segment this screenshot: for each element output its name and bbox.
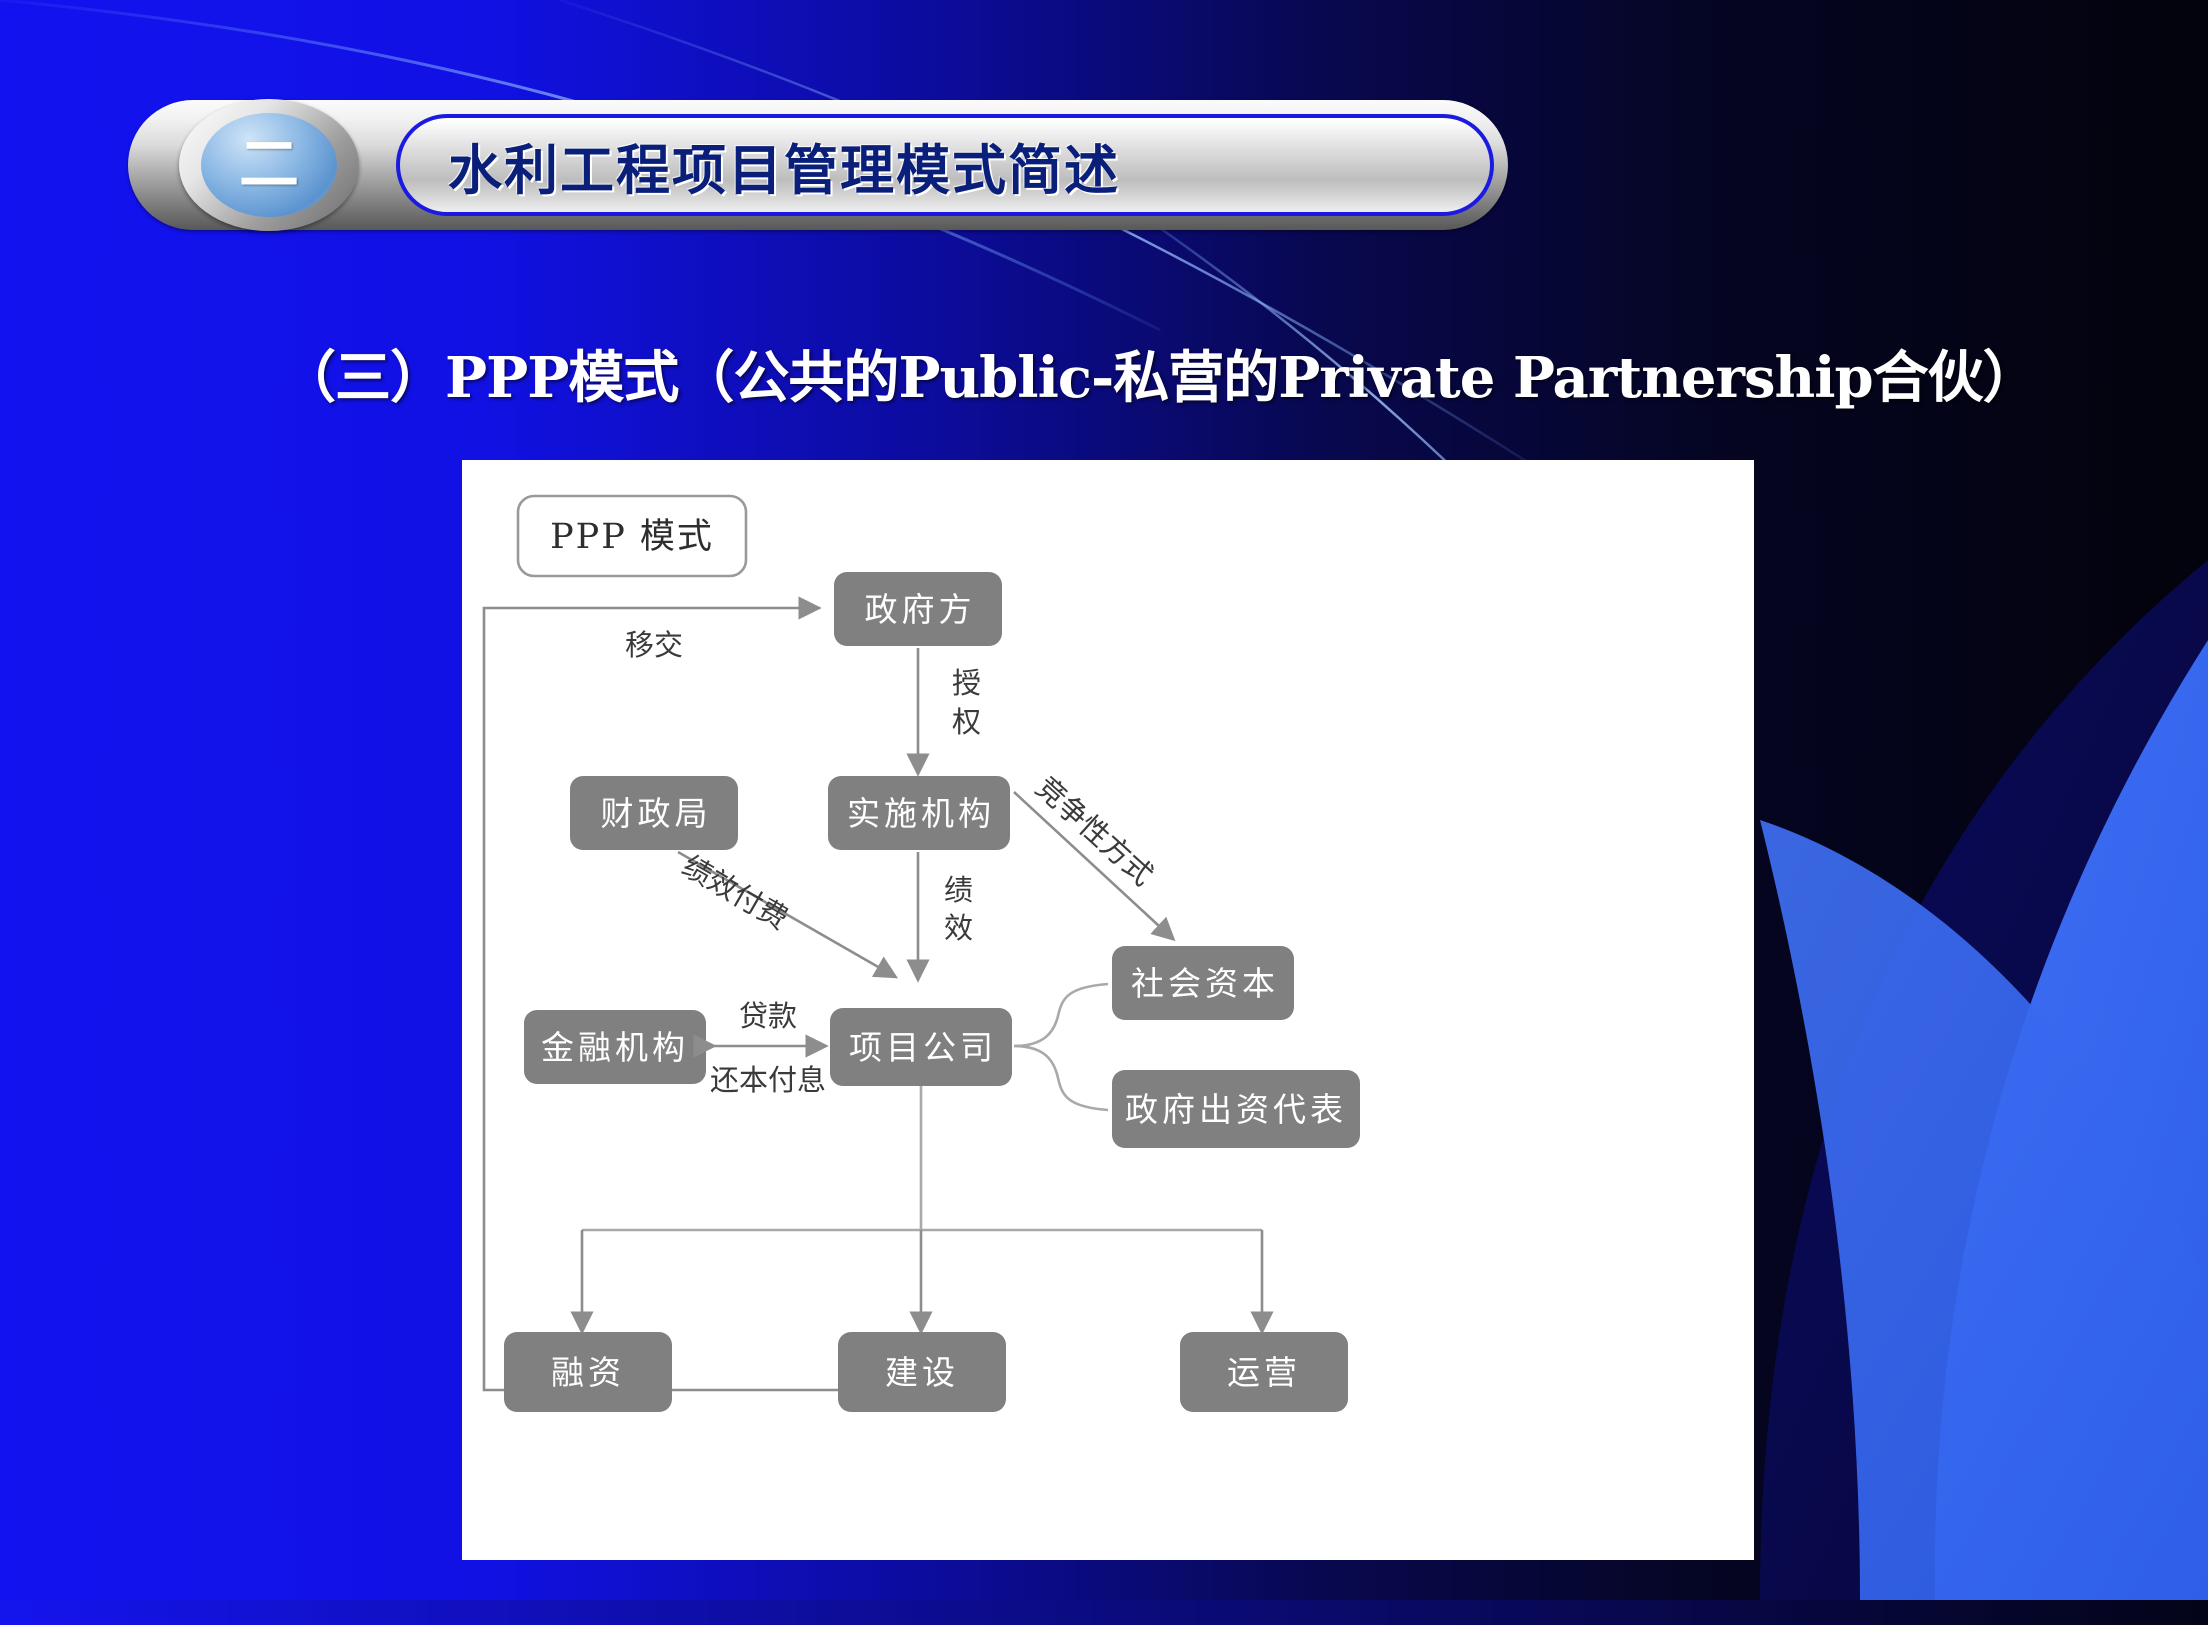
node-label-project-company: 项目公司 (849, 1028, 997, 1067)
node-financial-institution: 金融机构 (524, 1010, 706, 1084)
edge-label-transfer: 移交 (625, 628, 683, 662)
node-label-financing: 融资 (551, 1353, 625, 1392)
edge-label-performance-2: 效 (944, 911, 973, 945)
edge-label-loan: 贷款 (739, 999, 797, 1033)
caption-text: PPP 模式 (550, 517, 714, 557)
slide-title-banner: 水利工程项目管理模式简述 二 (128, 100, 1508, 230)
node-implementing-agency: 实施机构 (828, 776, 1010, 850)
node-label-construction: 建设 (885, 1353, 959, 1392)
badge-core: 二 (201, 113, 337, 217)
node-label-implementing-agency: 实施机构 (847, 794, 995, 833)
node-operation: 运营 (1180, 1332, 1348, 1412)
edge-equity-brace (1014, 984, 1108, 1110)
node-government-investor: 政府出资代表 (1112, 1070, 1360, 1148)
node-project-company: 项目公司 (830, 1008, 1012, 1086)
ppp-diagram-panel: PPP 模式 移交 政府方 授 权 财政局 实施机构 (462, 460, 1754, 1560)
edge-performance: 绩 效 (918, 852, 973, 978)
edge-transfer: 移交 (484, 608, 915, 1390)
node-label-finance-bureau: 财政局 (601, 794, 712, 833)
node-label-operation: 运营 (1227, 1353, 1301, 1392)
edge-label-authorize-2: 权 (952, 705, 981, 739)
diagram-caption-box: PPP 模式 (518, 496, 746, 576)
page-title: 水利工程项目管理模式简述 (448, 126, 1120, 205)
badge-number-glyph: 二 (239, 135, 299, 195)
node-label-social-capital: 社会资本 (1131, 964, 1279, 1003)
node-finance-bureau: 财政局 (570, 776, 738, 850)
badge-ring: 二 (179, 99, 359, 231)
node-label-government-investor: 政府出资代表 (1125, 1090, 1347, 1129)
section-subtitle: （三）PPP模式（公共的Public-私营的Private Partnershi… (175, 345, 2045, 411)
node-label-government: 政府方 (865, 590, 976, 629)
banner-inner-plate: 水利工程项目管理模式简述 (396, 114, 1494, 216)
section-number-badge: 二 (136, 98, 402, 232)
node-government: 政府方 (834, 572, 1002, 646)
edge-competitive-method: 竞争性方式 (1014, 770, 1172, 938)
node-label-financial-institution: 金融机构 (541, 1028, 689, 1067)
edge-loan-repayment: 贷款 还本付息 (710, 999, 826, 1097)
edge-label-repayment: 还本付息 (710, 1063, 826, 1097)
node-social-capital: 社会资本 (1112, 946, 1294, 1020)
edge-label-competitive-method: 竞争性方式 (1029, 770, 1160, 892)
edge-label-performance-1: 绩 (944, 873, 973, 907)
edge-performance-payment: 绩效付费 (677, 849, 895, 976)
node-construction: 建设 (838, 1332, 1006, 1412)
ppp-flowchart: PPP 模式 移交 政府方 授 权 财政局 实施机构 (462, 460, 1754, 1560)
edge-label-authorize-1: 授 (952, 666, 981, 700)
node-financing: 融资 (504, 1332, 672, 1412)
edge-label-performance-payment: 绩效付费 (677, 849, 794, 936)
edge-authorize: 授 权 (918, 648, 981, 772)
